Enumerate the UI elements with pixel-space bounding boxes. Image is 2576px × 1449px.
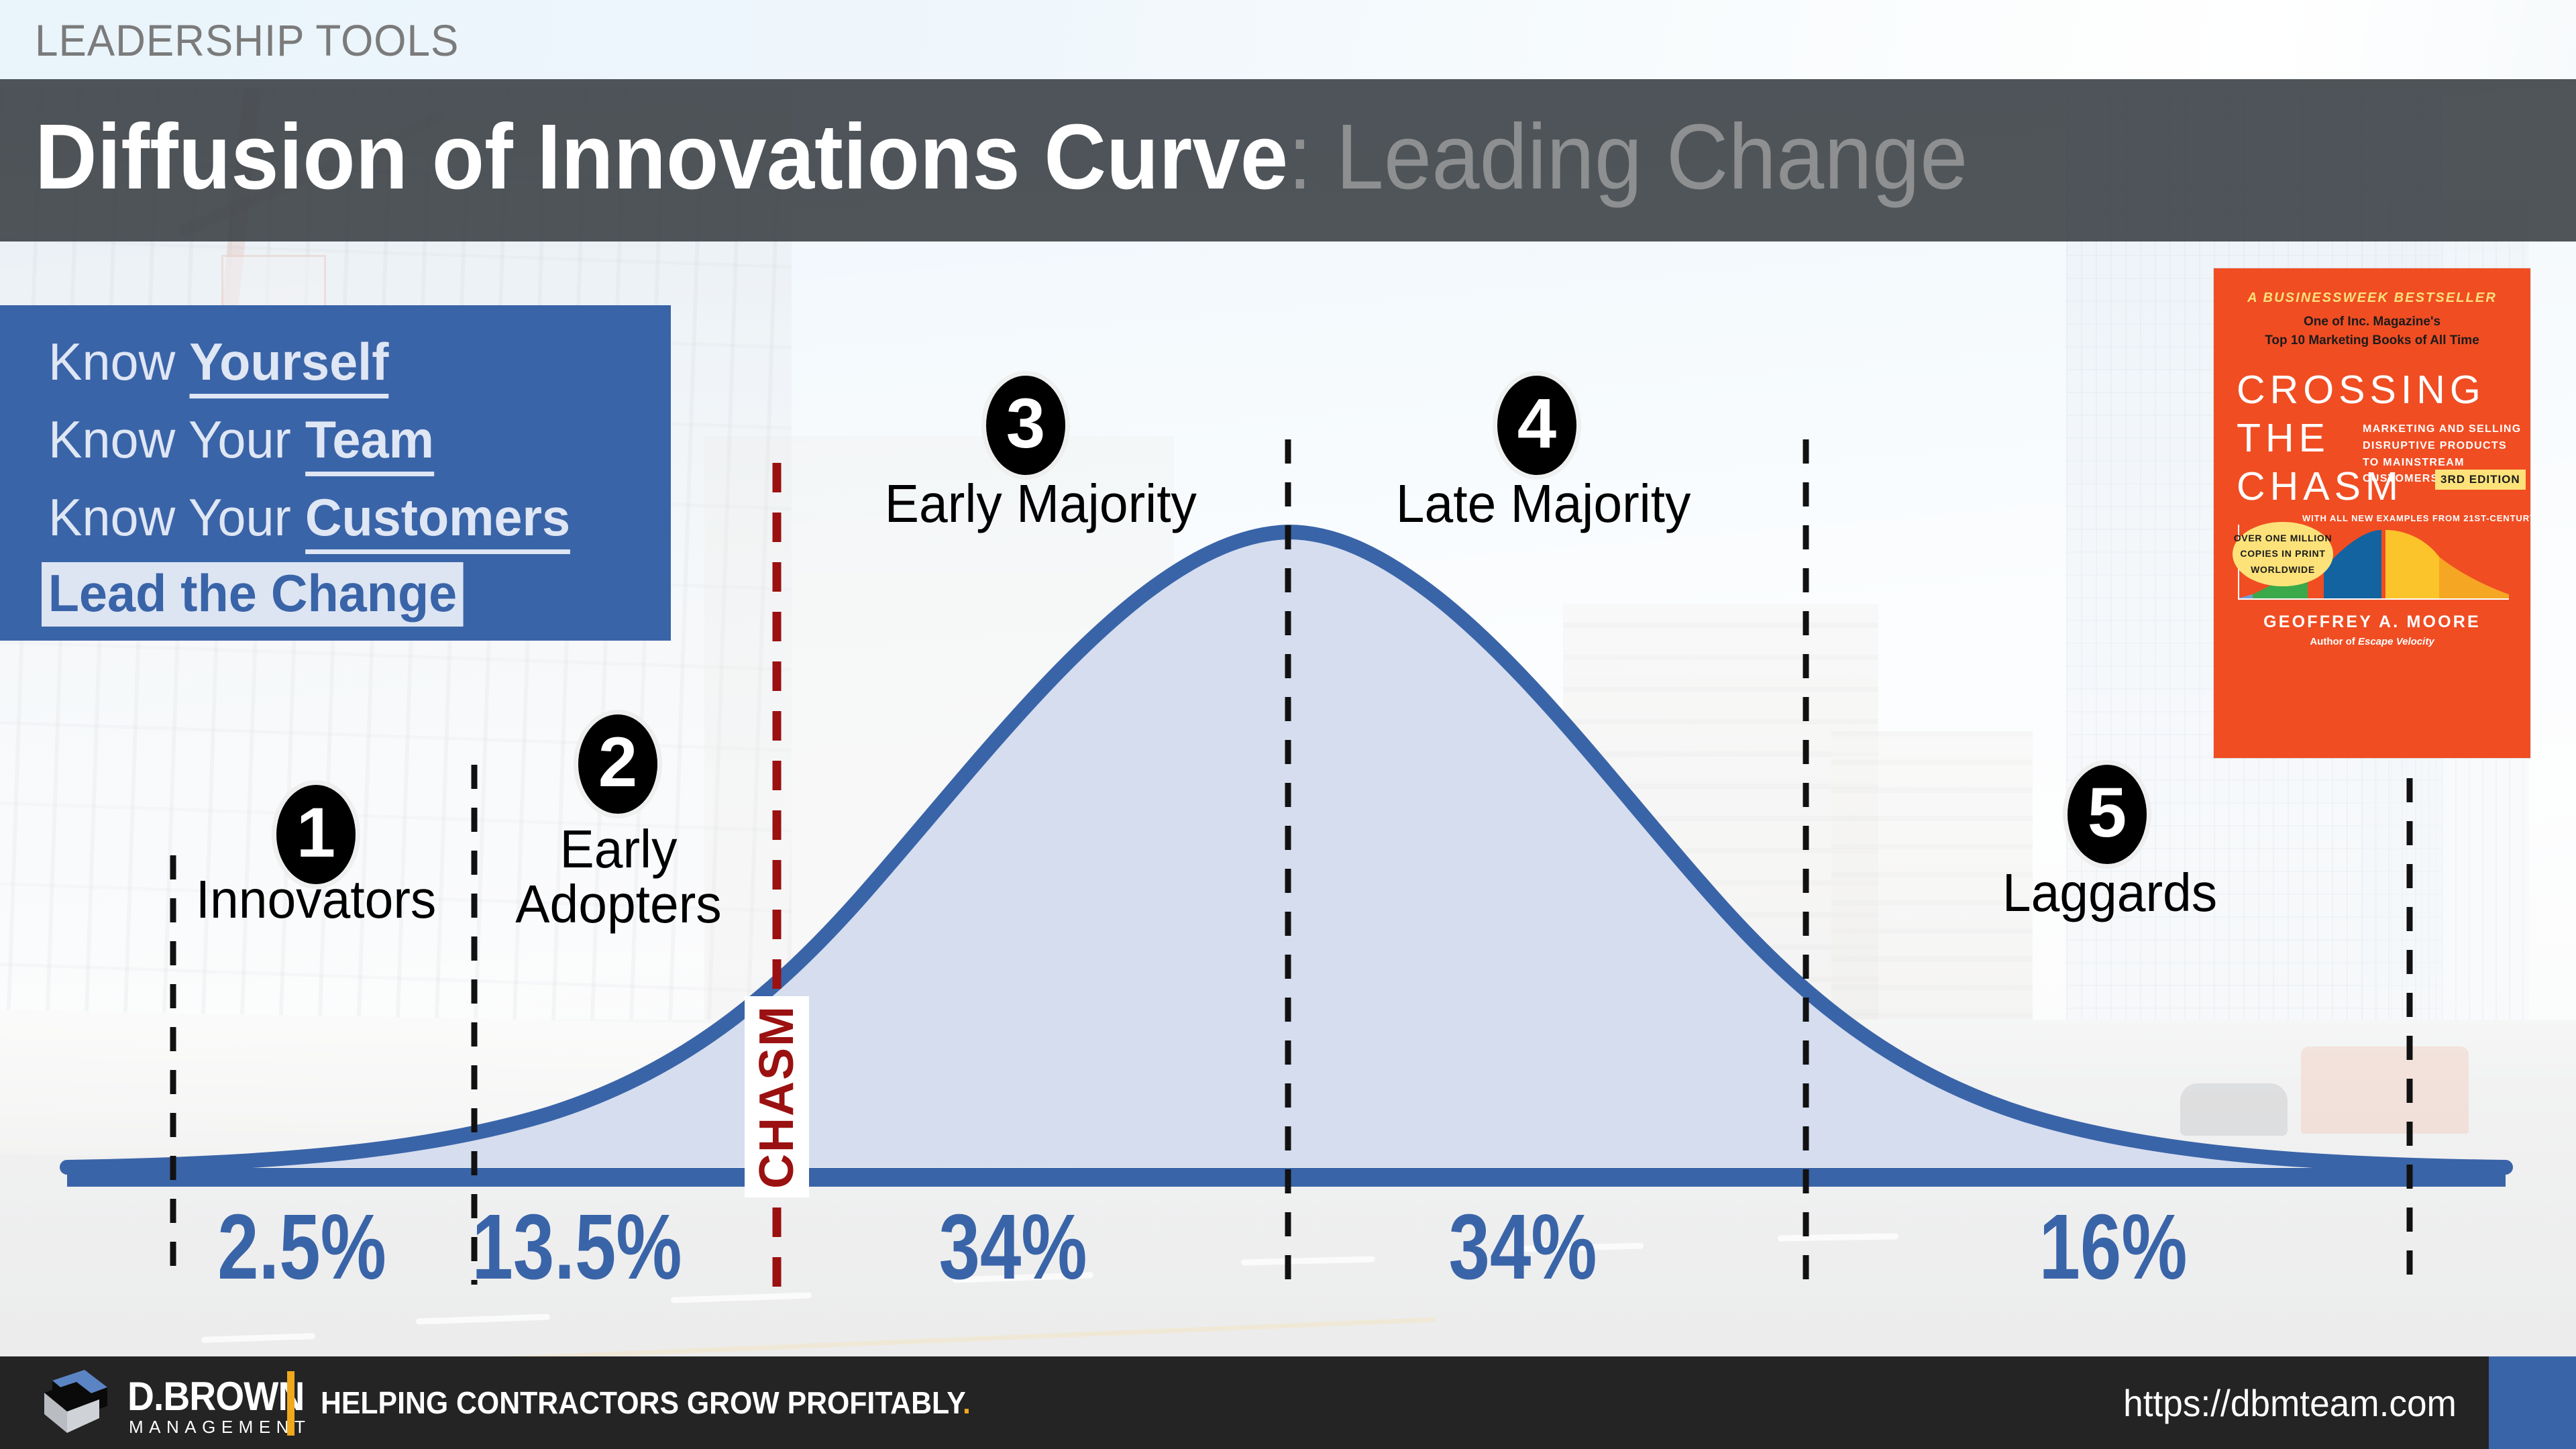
segment-badge-5: 5 xyxy=(2068,765,2147,864)
book-author: GEOFFREY A. MOORE xyxy=(2214,612,2530,632)
know-line-2-emph: Team xyxy=(305,410,434,476)
know-line-1-emph: Yourself xyxy=(189,332,388,398)
book-chart-slice-yellow xyxy=(2385,530,2439,598)
footer-brand: D.BROWN xyxy=(127,1377,304,1417)
segment-badge-3: 3 xyxy=(986,376,1065,475)
dbrown-logo-icon xyxy=(32,1368,119,1438)
know-line-3-emph: Customers xyxy=(305,488,570,554)
segment-value-early-majority: 34% xyxy=(895,1201,1131,1293)
chasm-label-text: CHASM xyxy=(749,1005,804,1189)
segment-value-innovators: 2.5% xyxy=(216,1201,388,1293)
footer-blue-accent xyxy=(2489,1356,2576,1449)
know-line-2: Know Your Team xyxy=(48,413,434,466)
book-author-note-title: Escape Velocity xyxy=(2358,636,2434,647)
segment-badge-2: 2 xyxy=(578,714,657,814)
book-bestseller-line: A BUSINESSWEEK BESTSELLER xyxy=(2214,290,2530,306)
book-inc-line-2: Top 10 Marketing Books of All Time xyxy=(2265,333,2479,347)
know-line-2-plain: Know Your xyxy=(48,410,305,469)
book-inc-line: One of Inc. Magazine's Top 10 Marketing … xyxy=(2214,313,2530,350)
segment-label-innovators: Innovators xyxy=(194,872,439,927)
segment-label-laggards: Laggards xyxy=(1981,865,2239,920)
footer-tagline-dot: . xyxy=(963,1385,971,1420)
chasm-label: CHASM xyxy=(745,996,809,1197)
know-line-1: Know Yourself xyxy=(48,335,388,388)
footer-divider xyxy=(287,1371,294,1436)
know-line-1-plain: Know xyxy=(48,332,189,391)
book-chart-slice-orange xyxy=(2439,557,2509,598)
footer-brand-sub: MANAGEMENT xyxy=(129,1418,311,1436)
book-author-note: Author of Escape Velocity xyxy=(2214,636,2530,647)
segment-badge-4: 4 xyxy=(1497,376,1576,475)
segment-label-early-adopters: Early Adopters xyxy=(509,822,728,931)
segment-label-late-majority: Late Majority xyxy=(1396,476,1679,531)
know-line-3: Know Your Customers xyxy=(48,491,570,543)
slide-root: LEADERSHIP TOOLS Diffusion of Innovation… xyxy=(0,0,2576,1449)
segment-value-early-adopters: 13.5% xyxy=(437,1201,716,1293)
book-edition-badge: 3RD EDITION xyxy=(2435,470,2526,490)
book-inc-line-1: One of Inc. Magazine's xyxy=(2304,315,2440,329)
book-copies-oval: OVER ONE MILLION COPIES IN PRINT WORLDWI… xyxy=(2233,522,2333,586)
segment-value-late-majority: 34% xyxy=(1405,1201,1641,1293)
book-title-line-1: CROSSING xyxy=(2237,370,2485,410)
footer-tagline: HELPING CONTRACTORS GROW PROFITABLY. xyxy=(321,1387,971,1418)
book-new-examples-line: WITH ALL NEW EXAMPLES FROM 21ST-CENTURY … xyxy=(2302,513,2530,523)
segment-label-early-majority: Early Majority xyxy=(885,476,1168,531)
book-author-note-pre: Author of xyxy=(2310,636,2358,647)
know-line-4-highlighted: Lead the Change xyxy=(42,562,464,627)
book-chart-slice-blue-small xyxy=(2238,594,2253,598)
footer-url[interactable]: https://dbmteam.com xyxy=(2123,1385,2457,1422)
footer-bar: D.BROWN MANAGEMENT HELPING CONTRACTORS G… xyxy=(0,1356,2576,1449)
segment-value-laggards: 16% xyxy=(1995,1201,2231,1293)
book-cover-crossing-the-chasm: A BUSINESSWEEK BESTSELLER One of Inc. Ma… xyxy=(2214,268,2530,758)
footer-tagline-text: HELPING CONTRACTORS GROW PROFITABLY xyxy=(321,1385,963,1420)
book-title-line-2: THE xyxy=(2237,419,2330,458)
know-line-3-plain: Know Your xyxy=(48,488,305,547)
